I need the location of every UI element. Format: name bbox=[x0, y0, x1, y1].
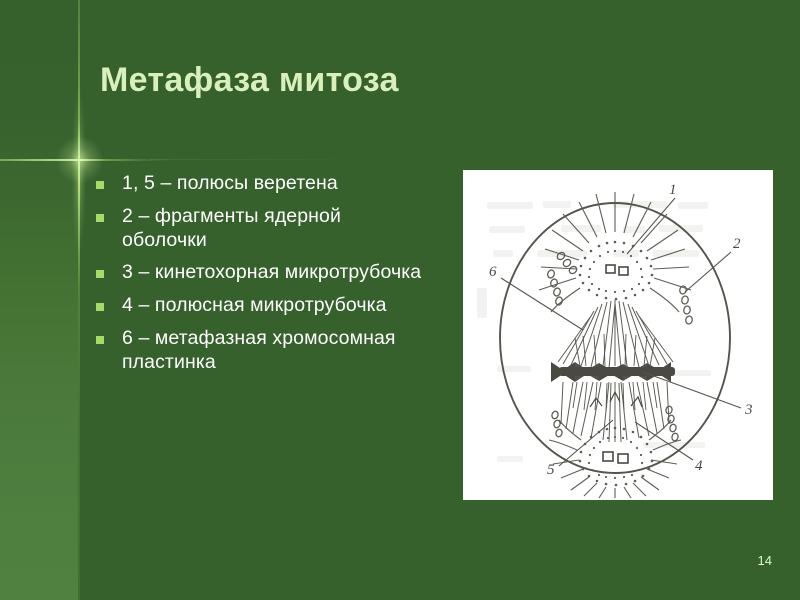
figure-label-5: 5 bbox=[547, 462, 555, 478]
figure-label-3: 3 bbox=[744, 402, 753, 418]
figure-label-2: 2 bbox=[733, 236, 741, 252]
list-item-label: 2 – фрагменты ядерной оболочки bbox=[122, 205, 426, 253]
list-item: 3 – кинетохорная микротрубочка bbox=[96, 261, 426, 285]
horizontal-accent-line-fade bbox=[150, 159, 380, 160]
figure-label-6: 6 bbox=[489, 264, 497, 280]
bullet-list: 1, 5 – полюсы веретена 2 – фрагменты яде… bbox=[96, 172, 426, 383]
square-bullet-icon bbox=[96, 270, 104, 278]
square-bullet-icon bbox=[96, 214, 104, 222]
slide-canvas: Метафаза митоза 1, 5 – полюсы веретена 2… bbox=[0, 0, 800, 600]
square-bullet-icon bbox=[96, 336, 104, 344]
list-item: 6 – метафазная хромосомная пластинка bbox=[96, 327, 426, 375]
list-item-label: 1, 5 – полюсы веретена bbox=[122, 172, 426, 196]
list-item: 4 – полюсная микротрубочка bbox=[96, 294, 426, 318]
mitosis-metaphase-diagram: 1 2 3 4 5 6 bbox=[463, 170, 773, 500]
page-number: 14 bbox=[758, 553, 772, 568]
vertical-accent-line bbox=[78, 0, 80, 600]
left-gradient-band bbox=[0, 0, 78, 600]
page-title: Метафаза митоза bbox=[100, 62, 740, 99]
list-item-label: 3 – кинетохорная микротрубочка bbox=[122, 261, 426, 285]
list-item-label: 6 – метафазная хромосомная пластинка bbox=[122, 327, 426, 375]
list-item: 1, 5 – полюсы веретена bbox=[96, 172, 426, 196]
list-item: 2 – фрагменты ядерной оболочки bbox=[96, 205, 426, 253]
square-bullet-icon bbox=[96, 303, 104, 311]
list-item-label: 4 – полюсная микротрубочка bbox=[122, 294, 426, 318]
horizontal-accent-line bbox=[0, 159, 170, 161]
square-bullet-icon bbox=[96, 181, 104, 189]
figure-label-1: 1 bbox=[669, 182, 677, 198]
figure-label-4: 4 bbox=[695, 458, 703, 474]
